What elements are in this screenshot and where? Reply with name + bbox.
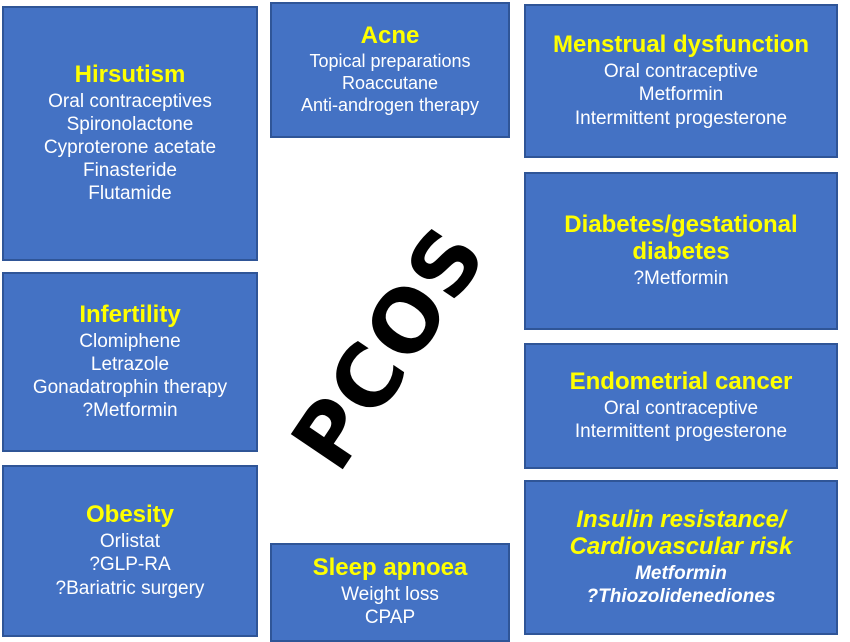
- pcos-wordmark-text: PCOS: [279, 212, 501, 483]
- card-title-obesity: Obesity: [86, 502, 174, 529]
- treatment-item: Oral contraceptive: [604, 60, 758, 83]
- treatment-item: ?Bariatric surgery: [56, 577, 205, 600]
- condition-card-insulin-resistance: Insulin resistance/ Cardiovascular risk …: [524, 480, 838, 635]
- card-treatments-insulin-resistance: Metformin ?Thiozolidenediones: [587, 562, 776, 608]
- card-title-infertility: Infertility: [79, 302, 180, 329]
- treatment-item: Flutamide: [88, 182, 171, 205]
- treatment-item: Finasteride: [83, 159, 177, 182]
- card-title-insulin-resistance: Insulin resistance/ Cardiovascular risk: [532, 507, 830, 561]
- card-treatments-diabetes: ?Metformin: [633, 267, 728, 290]
- treatment-item: Intermittent progesterone: [575, 107, 787, 130]
- center-label-pcos: PCOS: [268, 160, 512, 535]
- treatment-item: Cyproterone acetate: [44, 136, 216, 159]
- condition-card-menstrual-dysfunction: Menstrual dysfunction Oral contraceptive…: [524, 4, 838, 158]
- treatment-item: Clomiphene: [79, 330, 180, 353]
- treatment-item: CPAP: [365, 606, 415, 629]
- condition-card-infertility: Infertility Clomiphene Letrazole Gonadat…: [2, 272, 258, 452]
- card-treatments-infertility: Clomiphene Letrazole Gonadatrophin thera…: [33, 330, 227, 423]
- treatment-item: ?Thiozolidenediones: [587, 585, 776, 608]
- treatment-item: Oral contraceptives: [48, 90, 212, 113]
- card-treatments-endometrial-cancer: Oral contraceptive Intermittent progeste…: [575, 397, 787, 443]
- treatment-item: Orlistat: [100, 530, 160, 553]
- card-treatments-obesity: Orlistat ?GLP-RA ?Bariatric surgery: [56, 530, 205, 600]
- treatment-item: ?Metformin: [633, 267, 728, 290]
- treatment-item: Spironolactone: [67, 113, 194, 136]
- treatment-item: ?GLP-RA: [89, 553, 170, 576]
- treatment-item: Metformin: [635, 562, 727, 585]
- treatment-item: Metformin: [639, 83, 723, 106]
- card-title-acne: Acne: [361, 23, 420, 50]
- treatment-item: Gonadatrophin therapy: [33, 376, 227, 399]
- condition-card-sleep-apnoea: Sleep apnoea Weight loss CPAP: [270, 543, 510, 642]
- treatment-item: Anti-androgen therapy: [301, 95, 479, 117]
- card-treatments-sleep-apnoea: Weight loss CPAP: [341, 583, 439, 629]
- condition-card-endometrial-cancer: Endometrial cancer Oral contraceptive In…: [524, 343, 838, 469]
- card-treatments-acne: Topical preparations Roaccutane Anti-and…: [301, 51, 479, 117]
- treatment-item: ?Metformin: [82, 399, 177, 422]
- treatment-item: Topical preparations: [309, 51, 470, 73]
- condition-card-diabetes: Diabetes/gestational diabetes ?Metformin: [524, 172, 838, 330]
- condition-card-acne: Acne Topical preparations Roaccutane Ant…: [270, 2, 510, 138]
- card-treatments-hirsutism: Oral contraceptives Spironolactone Cypro…: [44, 90, 216, 206]
- treatment-item: Weight loss: [341, 583, 439, 606]
- condition-card-obesity: Obesity Orlistat ?GLP-RA ?Bariatric surg…: [2, 465, 258, 637]
- card-treatments-menstrual-dysfunction: Oral contraceptive Metformin Intermitten…: [575, 60, 787, 130]
- treatment-item: Intermittent progesterone: [575, 420, 787, 443]
- treatment-item: Oral contraceptive: [604, 397, 758, 420]
- condition-card-hirsutism: Hirsutism Oral contraceptives Spironolac…: [2, 6, 258, 261]
- card-title-menstrual-dysfunction: Menstrual dysfunction: [553, 32, 809, 59]
- treatment-item: Letrazole: [91, 353, 169, 376]
- treatment-item: Roaccutane: [342, 73, 438, 95]
- card-title-hirsutism: Hirsutism: [75, 62, 186, 89]
- card-title-sleep-apnoea: Sleep apnoea: [313, 555, 468, 582]
- card-title-endometrial-cancer: Endometrial cancer: [570, 369, 793, 396]
- pcos-management-diagram: Hirsutism Oral contraceptives Spironolac…: [0, 0, 850, 642]
- card-title-diabetes: Diabetes/gestational diabetes: [532, 212, 830, 266]
